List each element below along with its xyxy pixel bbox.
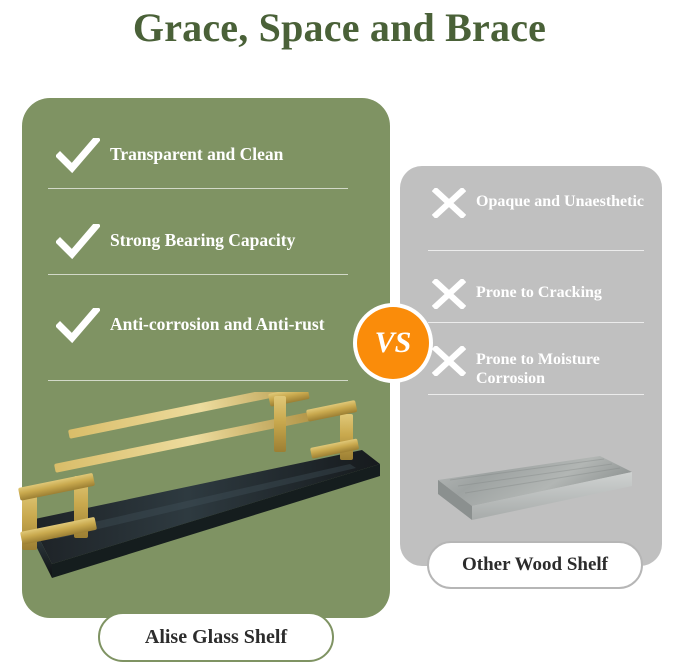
cross-icon <box>432 188 466 218</box>
left-caption-label: Alise Glass Shelf <box>145 626 287 649</box>
right-feature-label-3: Prone to Moisture Corrosion <box>476 350 656 388</box>
page-title: Grace, Space and Brace <box>0 4 679 51</box>
vs-badge: VS <box>357 307 429 379</box>
right-divider-3 <box>428 394 644 395</box>
wood-shelf-image <box>432 450 638 536</box>
right-caption-label: Other Wood Shelf <box>462 554 608 576</box>
glass-shelf-image <box>10 392 390 607</box>
left-divider-3 <box>48 380 348 381</box>
cross-icon <box>432 346 466 376</box>
right-caption-pill: Other Wood Shelf <box>427 541 643 589</box>
vs-badge-label: VS <box>357 307 429 379</box>
cross-icon <box>432 279 466 309</box>
check-icon <box>56 138 100 174</box>
right-divider-2 <box>428 322 644 323</box>
left-caption-pill: Alise Glass Shelf <box>98 612 334 662</box>
left-feature-label-3: Anti-corrosion and Anti-rust <box>110 314 350 334</box>
check-icon <box>56 308 100 344</box>
left-divider-1 <box>48 188 348 189</box>
left-feature-label-1: Transparent and Clean <box>110 144 350 164</box>
right-feature-label-1: Opaque and Unaesthetic <box>476 192 656 211</box>
right-feature-label-2: Prone to Cracking <box>476 283 656 302</box>
left-divider-2 <box>48 274 348 275</box>
left-feature-label-2: Strong Bearing Capacity <box>110 230 350 250</box>
right-divider-1 <box>428 250 644 251</box>
check-icon <box>56 224 100 260</box>
